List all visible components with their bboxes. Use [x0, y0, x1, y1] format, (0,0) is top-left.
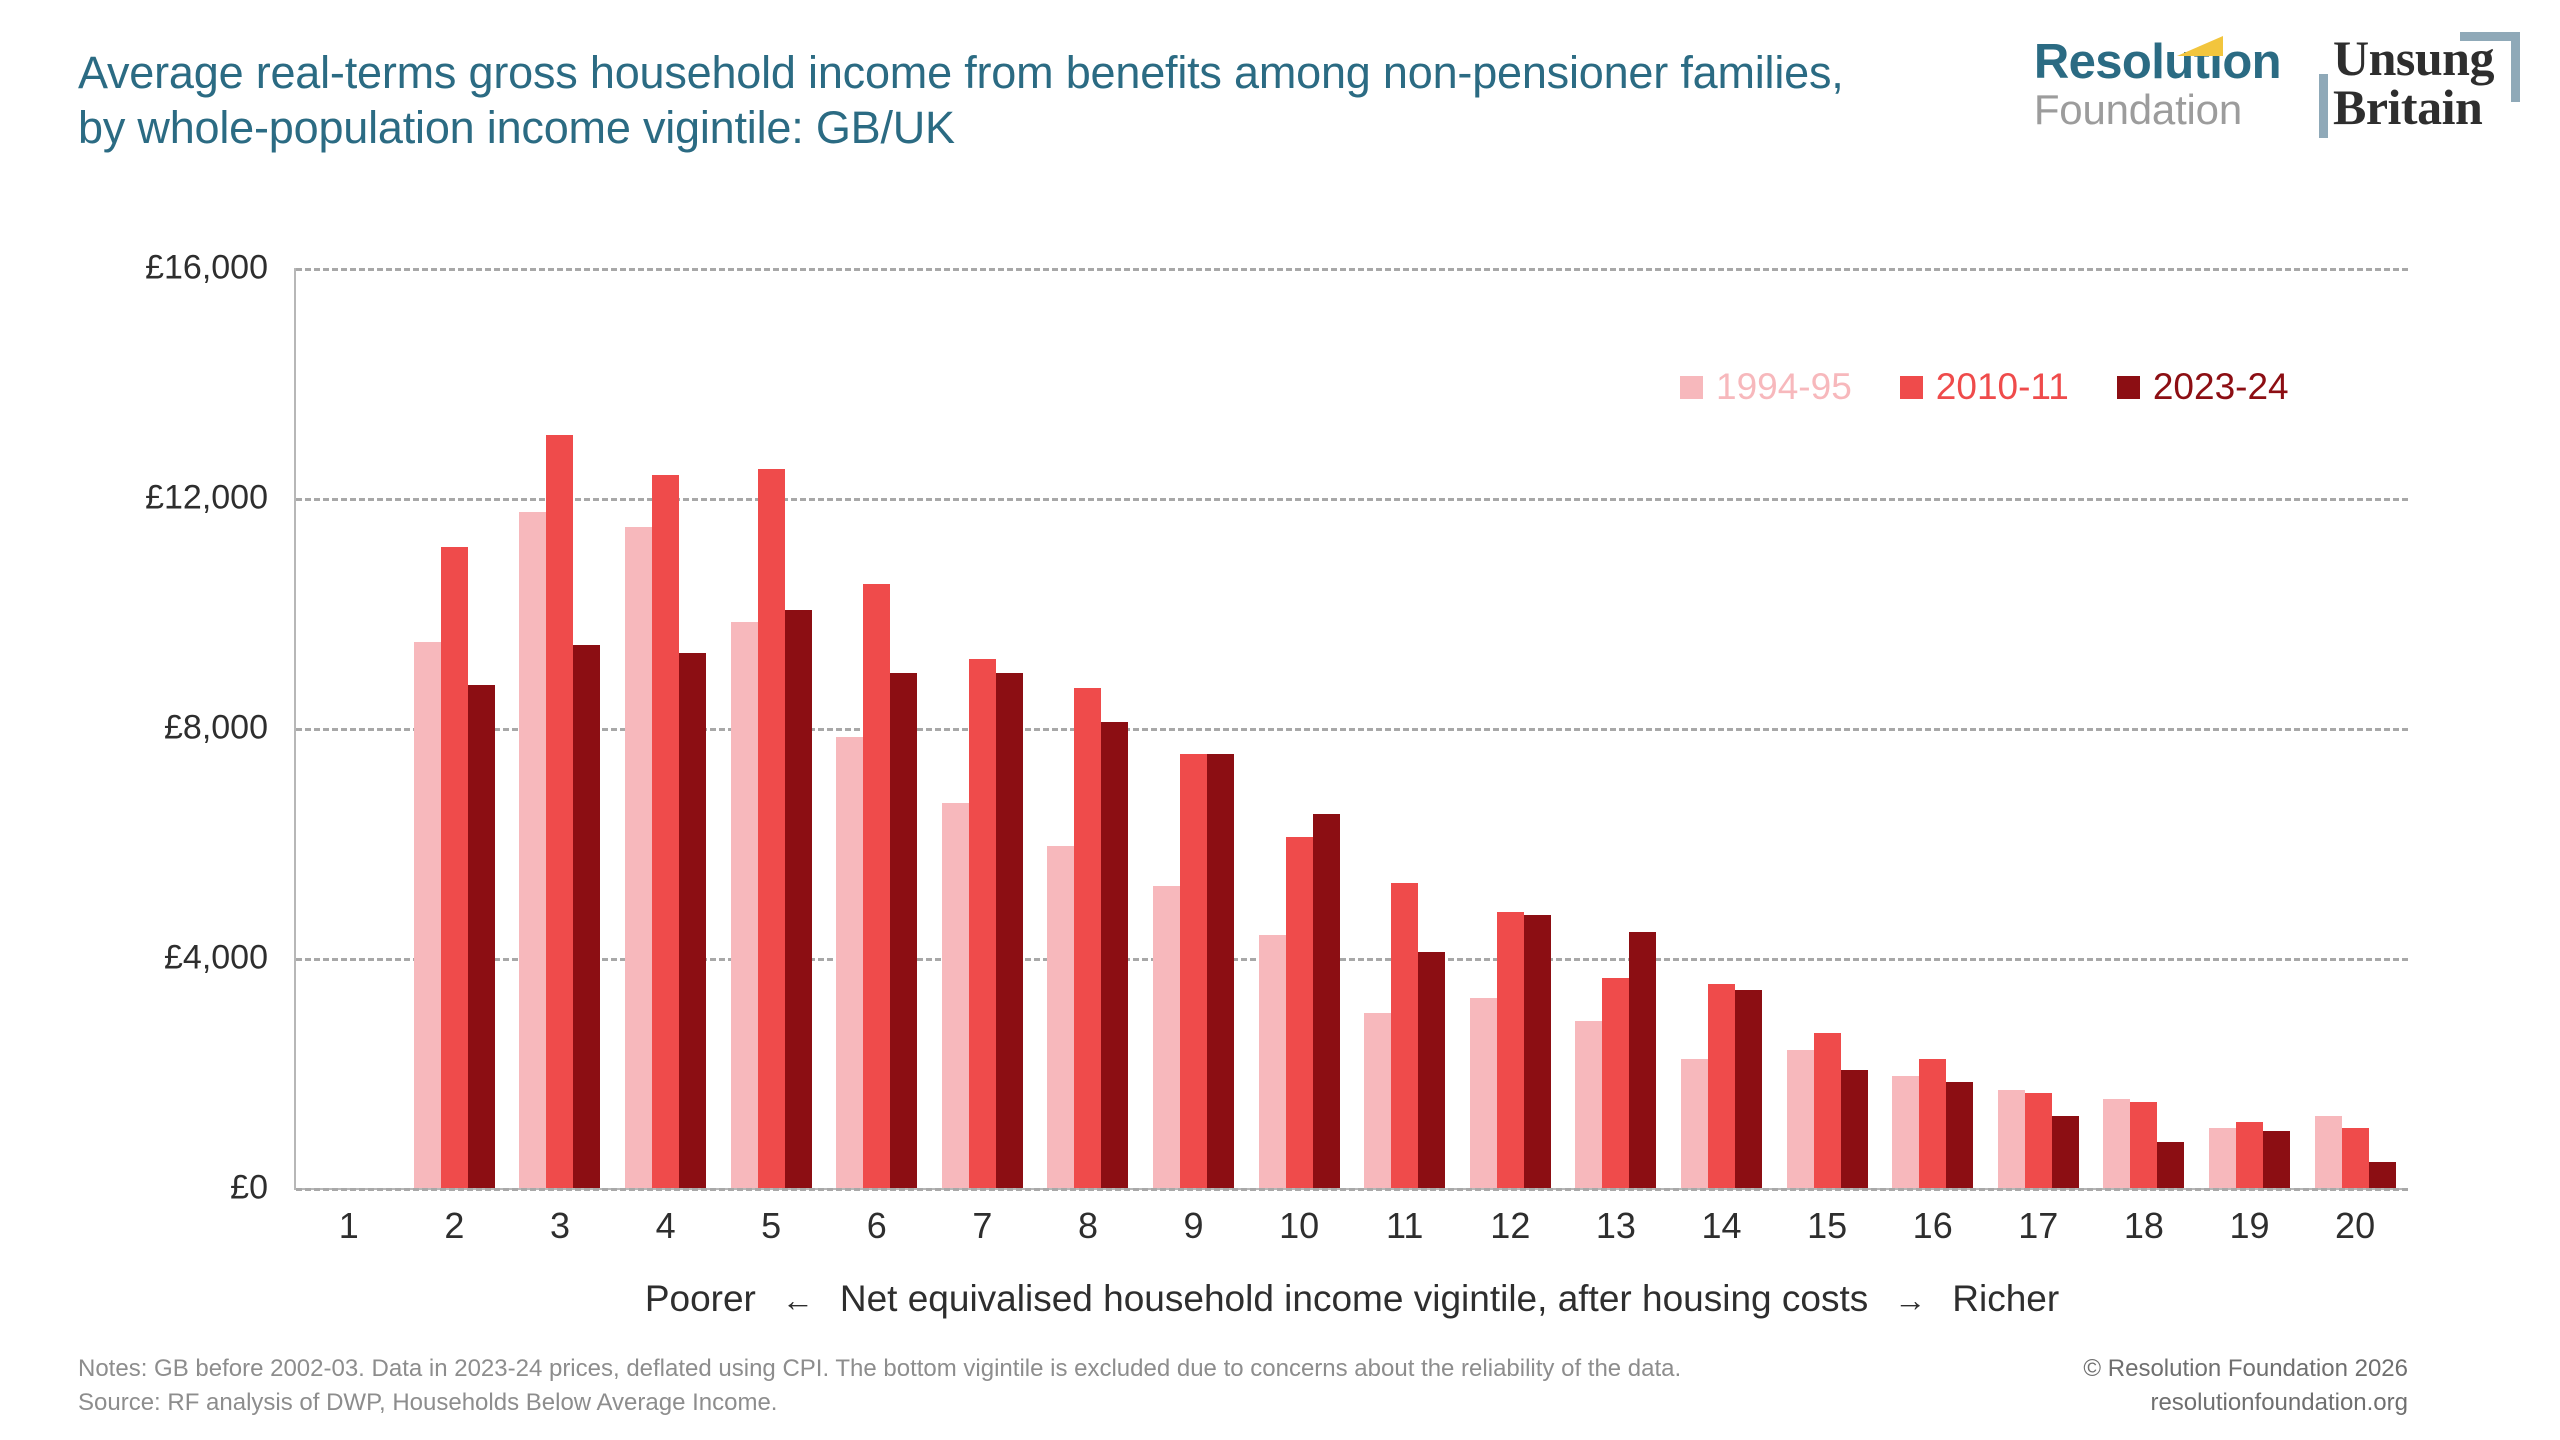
x-axis-tick-label-2: 2 — [402, 1205, 508, 1247]
bar-1994-95-v18 — [2103, 1099, 2130, 1188]
bar-2010-11-v12 — [1497, 912, 1524, 1188]
bar-2023-24-v4 — [679, 653, 706, 1188]
bar-2010-11-v20 — [2342, 1128, 2369, 1188]
x-axis-tick-label-7: 7 — [930, 1205, 1036, 1247]
bar-2010-11-v11 — [1391, 883, 1418, 1188]
y-axis-tick-label: £16,000 — [40, 249, 268, 288]
bar-2023-24-v6 — [890, 673, 917, 1188]
bar-2010-11-v4 — [652, 475, 679, 1188]
footer-source-line: Source: RF analysis of DWP, Households B… — [78, 1386, 1778, 1420]
x-axis-tick-label-19: 19 — [2197, 1205, 2303, 1247]
x-axis-tick-label-10: 10 — [1246, 1205, 1352, 1247]
legend-swatch-icon — [1680, 376, 1703, 399]
bar-2010-11-v9 — [1180, 754, 1207, 1188]
chart-plot: £0£4,000£8,000£12,000£16,000 12345678910… — [0, 0, 2560, 1440]
gridline — [296, 1188, 2408, 1191]
bar-2023-24-v5 — [785, 610, 812, 1188]
legend-swatch-icon — [2117, 376, 2140, 399]
axis-caption-richer: Richer — [1952, 1278, 2059, 1320]
bar-2010-11-v6 — [863, 584, 890, 1188]
bar-2023-24-v12 — [1524, 915, 1551, 1188]
x-axis-tick-label-12: 12 — [1458, 1205, 1564, 1247]
bar-1994-95-v16 — [1892, 1076, 1919, 1188]
bar-1994-95-v9 — [1153, 886, 1180, 1188]
bar-2023-24-v17 — [2052, 1116, 2079, 1188]
bar-1994-95-v14 — [1681, 1059, 1708, 1188]
x-axis-tick-label-4: 4 — [613, 1205, 719, 1247]
y-axis-tick-label: £8,000 — [40, 709, 268, 748]
x-axis-tick-label-9: 9 — [1141, 1205, 1247, 1247]
bar-2023-24-v2 — [468, 685, 495, 1188]
bar-2010-11-v17 — [2025, 1093, 2052, 1188]
legend-item-2023-24[interactable]: 2023-24 — [2117, 366, 2289, 408]
legend-swatch-icon — [1900, 376, 1923, 399]
x-axis-tick-label-18: 18 — [2091, 1205, 2197, 1247]
bar-2023-24-v20 — [2369, 1162, 2396, 1188]
bar-group-3 — [507, 268, 613, 1188]
bar-group-8 — [1035, 268, 1141, 1188]
bar-2023-24-v10 — [1313, 814, 1340, 1188]
bar-2023-24-v19 — [2263, 1131, 2290, 1189]
footer-credits: © Resolution Foundation 2026 resolutionf… — [1708, 1352, 2408, 1420]
bar-2010-11-v7 — [969, 659, 996, 1188]
legend-label: 2010-11 — [1936, 366, 2069, 408]
x-axis-tick-label-6: 6 — [824, 1205, 930, 1247]
bar-group-2 — [402, 268, 508, 1188]
x-axis-tick-label-5: 5 — [718, 1205, 824, 1247]
bar-group-9 — [1141, 268, 1247, 1188]
footer-notes: Notes: GB before 2002-03. Data in 2023-2… — [78, 1352, 1778, 1420]
bar-group-1 — [296, 268, 402, 1188]
bar-2023-24-v18 — [2157, 1142, 2184, 1188]
bar-group-4 — [613, 268, 719, 1188]
bar-1994-95-v3 — [519, 512, 546, 1188]
bar-1994-95-v2 — [414, 642, 441, 1188]
bar-2023-24-v7 — [996, 673, 1023, 1188]
bar-2010-11-v16 — [1919, 1059, 1946, 1188]
bar-2010-11-v19 — [2236, 1122, 2263, 1188]
x-axis-tick-label-20: 20 — [2302, 1205, 2408, 1247]
x-axis-tick-labels: 1234567891011121314151617181920 — [296, 1205, 2408, 1247]
bar-2010-11-v18 — [2130, 1102, 2157, 1188]
bar-2010-11-v8 — [1074, 688, 1101, 1188]
bar-1994-95-v20 — [2315, 1116, 2342, 1188]
bar-2023-24-v14 — [1735, 990, 1762, 1188]
x-axis-tick-label-13: 13 — [1563, 1205, 1669, 1247]
chart-legend: 1994-952010-112023-24 — [1680, 366, 2289, 408]
bar-2010-11-v13 — [1602, 978, 1629, 1188]
bar-1994-95-v4 — [625, 527, 652, 1188]
x-axis-tick-label-1: 1 — [296, 1205, 402, 1247]
bar-group-5 — [718, 268, 824, 1188]
bar-1994-95-v10 — [1259, 935, 1286, 1188]
x-axis-tick-label-11: 11 — [1352, 1205, 1458, 1247]
legend-label: 2023-24 — [2153, 366, 2289, 408]
bar-1994-95-v17 — [1998, 1090, 2025, 1188]
bar-group-13 — [1563, 268, 1669, 1188]
bar-1994-95-v15 — [1787, 1050, 1814, 1188]
x-axis-tick-label-14: 14 — [1669, 1205, 1775, 1247]
legend-label: 1994-95 — [1716, 366, 1852, 408]
bar-group-12 — [1458, 268, 1564, 1188]
legend-item-1994-95[interactable]: 1994-95 — [1680, 366, 1852, 408]
bar-1994-95-v7 — [942, 803, 969, 1188]
bar-group-6 — [824, 268, 930, 1188]
x-axis-tick-label-15: 15 — [1774, 1205, 1880, 1247]
bar-1994-95-v19 — [2209, 1128, 2236, 1188]
bar-1994-95-v8 — [1047, 846, 1074, 1188]
bar-2010-11-v10 — [1286, 837, 1313, 1188]
bar-group-11 — [1352, 268, 1458, 1188]
axis-caption-text: Net equivalised household income viginti… — [840, 1278, 1868, 1320]
bar-1994-95-v5 — [731, 622, 758, 1188]
arrow-left-icon: ← — [782, 1282, 814, 1319]
y-axis-tick-label: £0 — [40, 1169, 268, 1208]
bar-1994-95-v6 — [836, 737, 863, 1188]
bar-2023-24-v16 — [1946, 1082, 1973, 1188]
arrow-right-icon: → — [1894, 1282, 1926, 1319]
x-axis-tick-label-16: 16 — [1880, 1205, 1986, 1247]
bar-group-7 — [930, 268, 1036, 1188]
bar-group-20 — [2302, 268, 2408, 1188]
bar-1994-95-v12 — [1470, 998, 1497, 1188]
bar-2010-11-v2 — [441, 547, 468, 1188]
bar-2010-11-v14 — [1708, 984, 1735, 1188]
y-axis-tick-label: £4,000 — [40, 939, 268, 978]
x-axis-tick-label-3: 3 — [507, 1205, 613, 1247]
bar-2010-11-v3 — [546, 435, 573, 1188]
legend-item-2010-11[interactable]: 2010-11 — [1900, 366, 2069, 408]
footer-notes-line: Notes: GB before 2002-03. Data in 2023-2… — [78, 1352, 1778, 1386]
bar-2010-11-v15 — [1814, 1033, 1841, 1188]
footer-website: resolutionfoundation.org — [1708, 1386, 2408, 1420]
bar-2023-24-v3 — [573, 645, 600, 1188]
bar-2023-24-v15 — [1841, 1070, 1868, 1188]
x-axis-tick-label-17: 17 — [1986, 1205, 2092, 1247]
x-axis-tick-label-8: 8 — [1035, 1205, 1141, 1247]
bar-2010-11-v5 — [758, 469, 785, 1188]
bar-group-10 — [1246, 268, 1352, 1188]
y-axis-tick-label: £12,000 — [40, 479, 268, 518]
axis-caption-poorer: Poorer — [645, 1278, 756, 1320]
bar-1994-95-v11 — [1364, 1013, 1391, 1188]
footer-copyright: © Resolution Foundation 2026 — [1708, 1352, 2408, 1386]
bar-2023-24-v13 — [1629, 932, 1656, 1188]
bar-2023-24-v11 — [1418, 952, 1445, 1188]
bar-2023-24-v9 — [1207, 754, 1234, 1188]
bar-2023-24-v8 — [1101, 722, 1128, 1188]
x-axis-caption: Poorer ← Net equivalised household incom… — [296, 1278, 2408, 1320]
bar-1994-95-v13 — [1575, 1021, 1602, 1188]
